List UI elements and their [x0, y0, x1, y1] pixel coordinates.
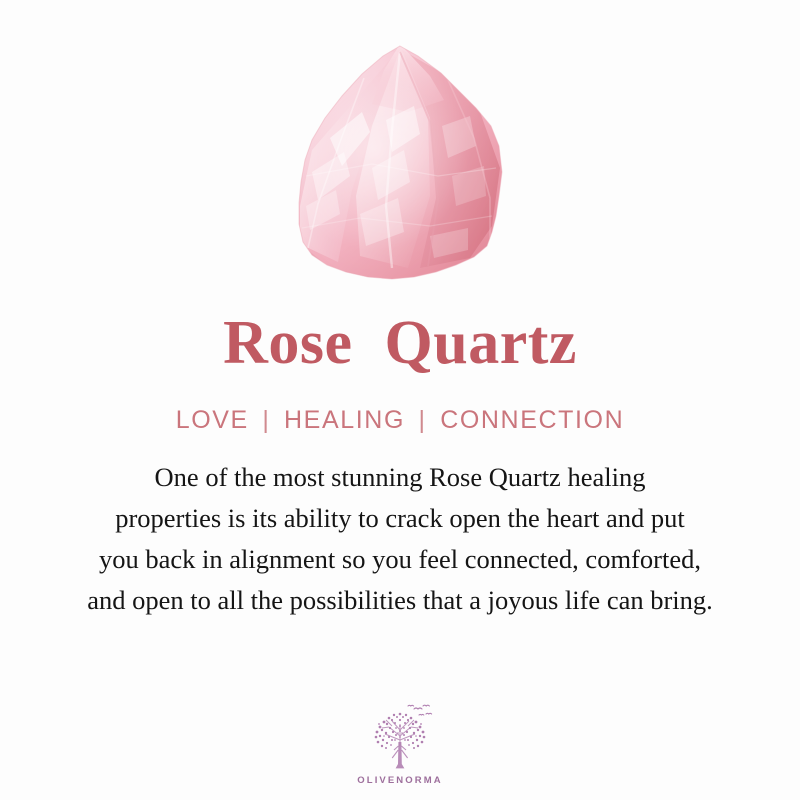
crystal-body	[280, 30, 530, 300]
description-line: you back in alignment so you feel connec…	[20, 539, 780, 580]
tagline-word-healing: HEALING	[284, 406, 405, 434]
brand-wordmark: OLIVENORMA	[357, 775, 442, 786]
tree-with-birds-icon	[362, 702, 438, 774]
description-line: One of the most stunning Rose Quartz hea…	[20, 457, 780, 498]
description-line: and open to all the possibilities that a…	[20, 580, 780, 621]
rose-quartz-crystal-image	[0, 0, 800, 300]
crystal-image-container	[0, 0, 800, 300]
page-title: Rose Quartz	[223, 300, 577, 374]
tagline-word-connection: CONNECTION	[440, 406, 624, 434]
tagline-separator: |	[257, 406, 275, 434]
brand-logo: OLIVENORMA	[0, 702, 800, 786]
keyword-tagline: LOVE | HEALING | CONNECTION	[176, 374, 625, 433]
description-paragraph: One of the most stunning Rose Quartz hea…	[20, 433, 780, 621]
description-line: properties is its ability to crack open …	[20, 498, 780, 539]
tagline-word-love: LOVE	[176, 406, 249, 434]
birds-icon	[408, 705, 432, 715]
rose-quartz-info-card: Rose Quartz LOVE | HEALING | CONNECTION …	[0, 0, 800, 800]
tagline-separator: |	[414, 406, 432, 434]
